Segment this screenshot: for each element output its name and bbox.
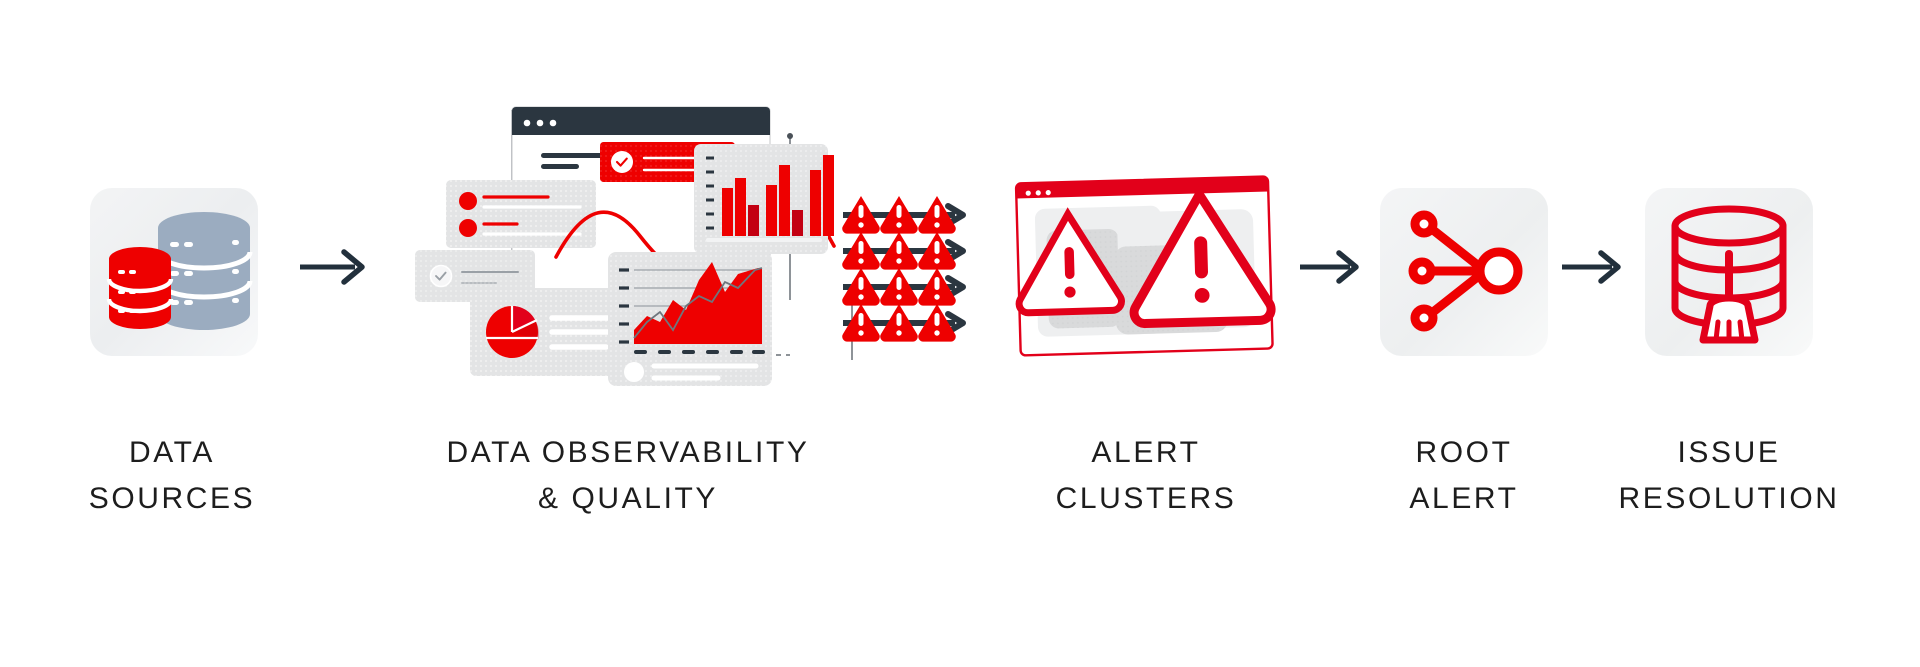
- stage-label-line2: SOURCES: [89, 482, 256, 515]
- card-texture: [694, 144, 828, 254]
- stage-label-line2: RESOLUTION: [1618, 482, 1839, 515]
- stage-label-line1: DATA: [129, 436, 215, 469]
- bullet-dot-icon: [459, 219, 477, 237]
- bullet-dot-icon: [459, 192, 477, 210]
- stage-label-line2: ALERT: [1409, 482, 1518, 515]
- stage-label-line1: ISSUE: [1677, 436, 1780, 469]
- alert-list-card[interactable]: [446, 180, 596, 248]
- check-circle-outline-icon: [431, 266, 452, 287]
- stage-label-line1: ROOT: [1415, 436, 1512, 469]
- card-texture: [446, 180, 596, 248]
- alert-triangle-row: [842, 232, 955, 270]
- process-flow-diagram: DATA SOURCES: [0, 0, 1920, 667]
- avatar: [624, 362, 644, 382]
- stage-label-line2: & QUALITY: [538, 482, 718, 515]
- stage-label-line2: CLUSTERS: [1056, 482, 1237, 515]
- area-card[interactable]: [608, 252, 772, 386]
- canvas-background: [0, 0, 1920, 667]
- alert-triangle-row: [842, 304, 955, 342]
- window-dots-icon: [524, 120, 557, 127]
- stage-label-line1: DATA OBSERVABILITY: [446, 436, 809, 469]
- stage-label-line1: ALERT: [1091, 436, 1200, 469]
- alert-triangle-row: [842, 268, 955, 306]
- check-circle-icon: [611, 151, 633, 173]
- alert-triangle-row: [842, 196, 955, 234]
- bar-baseline: [706, 238, 822, 242]
- bar-card[interactable]: [694, 144, 834, 254]
- alert-stream: [842, 196, 963, 342]
